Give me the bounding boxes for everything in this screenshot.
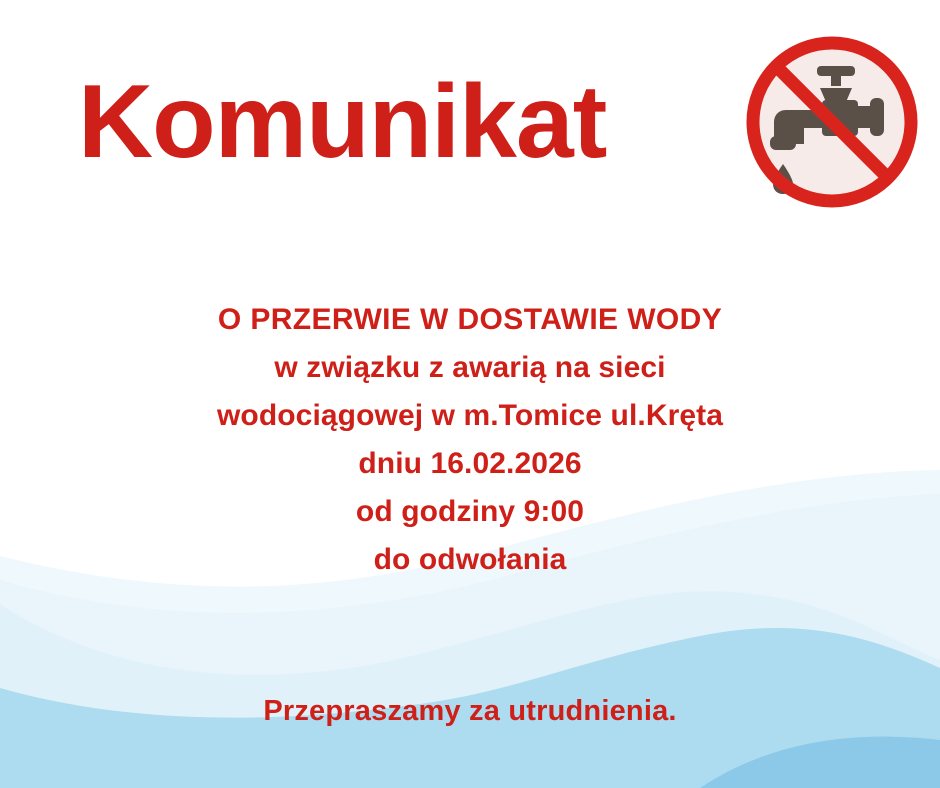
no-water-tap-icon [742,32,922,212]
message-line-headline: O PRZERWIE W DOSTAWIE WODY [0,296,940,344]
poster-header: Komunikat [0,0,940,240]
water-outage-notice-poster: Komunikat [0,0,940,788]
apology-text: Przepraszamy za utrudnienia. [0,692,940,730]
message-line-starttime: od godziny 9:00 [0,488,940,536]
apology-block: Przepraszamy za utrudnienia. [0,692,940,730]
outage-message-block: O PRZERWIE W DOSTAWIE WODY w związku z a… [0,296,940,584]
wave-layer-3 [0,591,940,788]
message-line-date: dniu 16.02.2026 [0,440,940,488]
wave-layer-5 [700,737,940,788]
message-line-reason: w związku z awarią na sieci [0,344,940,392]
message-line-location: wodociągowej w m.Tomice ul.Kręta [0,392,940,440]
message-line-until: do odwołania [0,536,940,584]
page-title: Komunikat [78,66,606,178]
